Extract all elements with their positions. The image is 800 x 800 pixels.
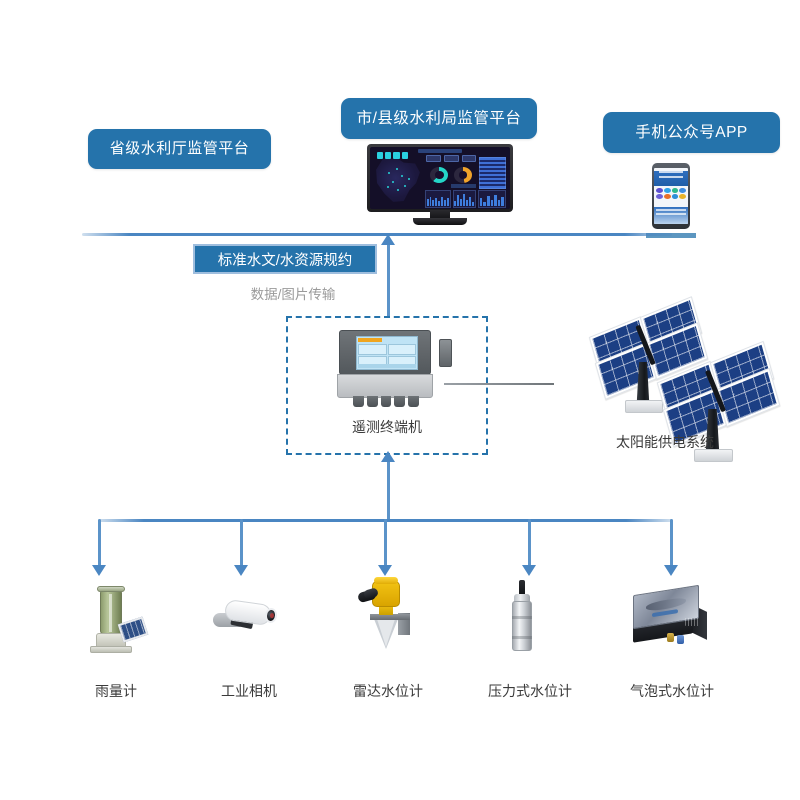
phone-screen (654, 168, 688, 224)
arrow-down-icon-bubbler-level (664, 565, 678, 576)
dashboard-title-bar (418, 149, 463, 153)
radar-level-icon (352, 575, 422, 653)
sensor-branch-line (384, 519, 387, 566)
dashboard-stat-cards (426, 155, 476, 162)
phone-app-header (654, 171, 688, 186)
pressure-sensor-ring (512, 616, 532, 619)
rtu-downlink-line (387, 460, 390, 522)
sensor-branch-line (670, 519, 673, 566)
rtu-enclosure-upper (339, 330, 431, 375)
arrow-down-icon-camera (234, 565, 248, 576)
rtu-connector-block (439, 339, 452, 367)
bubbler-blue-port (677, 635, 684, 644)
radar-horn-highlight (377, 619, 395, 647)
monitor-stand-base (413, 218, 467, 225)
sensor-label-pressure-level: 压力式水位计 (460, 681, 600, 701)
sensor-branch-line (240, 519, 243, 566)
sensor-label-radar-level: 雷达水位计 (318, 681, 458, 701)
phone-app-footer (654, 207, 688, 224)
camera-lens (264, 607, 278, 624)
dashboard-bar-chart (453, 190, 477, 207)
protocol-label: 标准水文/水资源规约 (193, 244, 377, 274)
arrow-up-icon-rtu (381, 451, 395, 462)
pressure-level-icon (500, 580, 544, 654)
rain-gauge-icon (84, 586, 148, 656)
rain-gauge-flange (90, 646, 132, 653)
dashboard-donut-chart-2 (454, 167, 472, 183)
sensor-branch-line (98, 519, 101, 566)
monitor-bezel (367, 144, 513, 212)
monitor-icon (367, 144, 513, 226)
bubbler-terminal-block (685, 618, 699, 626)
dashboard-screen (370, 147, 510, 209)
rtu-antenna (444, 383, 554, 385)
pressure-sensor-ring (512, 636, 532, 639)
solar-power-label: 太阳能供电系统 (585, 432, 745, 452)
dashboard-donut-chart-1 (430, 167, 448, 183)
uplink-line (387, 240, 390, 318)
bubbler-brass-port (667, 633, 674, 642)
rain-gauge-funnel-rim (97, 586, 125, 592)
rtu-display (356, 336, 418, 370)
solar-panel-icon-right (660, 345, 800, 495)
dashboard-kpi-chips (377, 152, 408, 159)
rtu-enclosure-lower (337, 374, 433, 398)
arrow-up-icon-uplink (381, 234, 395, 245)
rain-gauge-solar-panel (118, 616, 149, 642)
sensor-label-bubbler-level: 气泡式水位计 (602, 681, 742, 701)
sensor-branch-line (528, 519, 531, 566)
bubbler-level-icon (627, 588, 713, 650)
radar-housing-cap (374, 577, 398, 584)
smartphone-icon (652, 163, 690, 229)
dashboard-subtitle-bar (451, 184, 476, 188)
diagram-canvas: 省级水利厅监管平台 市/县级水利局监管平台 手机公众号APP (0, 0, 800, 800)
rtu-label: 遥测终端机 (286, 417, 488, 437)
arrow-down-icon-rain-gauge (92, 565, 106, 576)
platform-mobile-app[interactable]: 手机公众号APP (603, 112, 780, 153)
platform-provincial[interactable]: 省级水利厅监管平台 (88, 129, 271, 169)
dashboard-trend-chart (478, 190, 506, 207)
dashboard-line-chart (425, 190, 452, 207)
arrow-down-icon-pressure-level (522, 565, 536, 576)
platform-city-county[interactable]: 市/县级水利局监管平台 (341, 98, 537, 139)
dashboard-ranking-bars (479, 157, 506, 189)
platform-connector-line (82, 233, 672, 236)
solar-base-foot (625, 400, 663, 413)
data-transfer-label: 数据/图片传输 (232, 283, 354, 303)
rtu-cable-glands (353, 396, 419, 407)
sensor-label-rain-gauge: 雨量计 (46, 681, 186, 701)
dashboard-bar-chart-bars (454, 194, 474, 206)
sensor-label-industrial-camera: 工业相机 (179, 681, 319, 701)
pressure-sensor-body (512, 601, 532, 651)
dashboard-map-dots (374, 158, 422, 203)
dashboard-trend-chart-bars (480, 194, 504, 206)
phone-body (652, 163, 690, 229)
industrial-camera-icon (213, 596, 285, 644)
phone-app-icon-grid (654, 186, 688, 201)
telemetry-terminal-icon (331, 330, 444, 409)
dashboard-line-chart-bars (427, 194, 450, 206)
